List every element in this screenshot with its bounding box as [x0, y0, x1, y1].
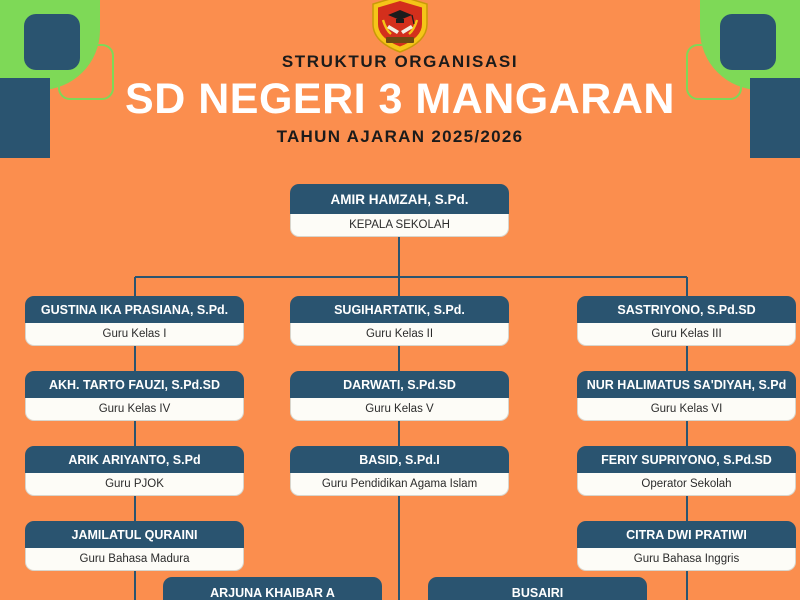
- org-node-role: Guru Kelas IV: [25, 398, 244, 421]
- org-node-name: DARWATI, S.Pd.SD: [290, 371, 509, 398]
- org-node-role: Guru Kelas V: [290, 398, 509, 421]
- org-node-c2-r1[interactable]: SUGIHARTATIK, S.Pd. Guru Kelas II: [290, 296, 509, 346]
- org-node-c1-r2[interactable]: AKH. TARTO FAUZI, S.Pd.SD Guru Kelas IV: [25, 371, 244, 421]
- org-node-c3-r4[interactable]: CITRA DWI PRATIWI Guru Bahasa Inggris: [577, 521, 796, 571]
- org-node-name: SUGIHARTATIK, S.Pd.: [290, 296, 509, 323]
- org-node-name: GUSTINA IKA PRASIANA, S.Pd.: [25, 296, 244, 323]
- org-node-c1-r1[interactable]: GUSTINA IKA PRASIANA, S.Pd. Guru Kelas I: [25, 296, 244, 346]
- org-node-c1-r3[interactable]: ARIK ARIYANTO, S.Pd Guru PJOK: [25, 446, 244, 496]
- org-node-role: Operator Sekolah: [577, 473, 796, 496]
- org-node-role: KEPALA SEKOLAH: [290, 214, 509, 237]
- org-node-name: BUSAIRI: [428, 577, 647, 600]
- org-node-role: Guru Bahasa Inggris: [577, 548, 796, 571]
- org-node-role: Guru Kelas III: [577, 323, 796, 346]
- org-node-name: NUR HALIMATUS SA'DIYAH, S.Pd: [577, 371, 796, 398]
- org-node-bottom-1[interactable]: ARJUNA KHAIBAR A: [163, 577, 382, 600]
- org-node-role: Guru PJOK: [25, 473, 244, 496]
- org-node-name: SASTRIYONO, S.Pd.SD: [577, 296, 796, 323]
- org-node-name: CITRA DWI PRATIWI: [577, 521, 796, 548]
- org-node-c3-r1[interactable]: SASTRIYONO, S.Pd.SD Guru Kelas III: [577, 296, 796, 346]
- org-node-name: ARIK ARIYANTO, S.Pd: [25, 446, 244, 473]
- org-node-c2-r3[interactable]: BASID, S.Pd.I Guru Pendidikan Agama Isla…: [290, 446, 509, 496]
- org-node-role: Guru Kelas I: [25, 323, 244, 346]
- org-node-role: Guru Bahasa Madura: [25, 548, 244, 571]
- org-node-role: Guru Kelas VI: [577, 398, 796, 421]
- org-node-c3-r3[interactable]: FERIY SUPRIYONO, S.Pd.SD Operator Sekola…: [577, 446, 796, 496]
- org-node-name: ARJUNA KHAIBAR A: [163, 577, 382, 600]
- org-node-role: Guru Pendidikan Agama Islam: [290, 473, 509, 496]
- org-node-c2-r2[interactable]: DARWATI, S.Pd.SD Guru Kelas V: [290, 371, 509, 421]
- org-chart: AMIR HAMZAH, S.Pd. KEPALA SEKOLAH GUSTIN…: [0, 0, 800, 600]
- org-node-name: AMIR HAMZAH, S.Pd.: [290, 184, 509, 214]
- org-node-role: Guru Kelas II: [290, 323, 509, 346]
- org-node-root[interactable]: AMIR HAMZAH, S.Pd. KEPALA SEKOLAH: [290, 184, 509, 237]
- org-node-name: AKH. TARTO FAUZI, S.Pd.SD: [25, 371, 244, 398]
- org-node-c3-r2[interactable]: NUR HALIMATUS SA'DIYAH, S.Pd Guru Kelas …: [577, 371, 796, 421]
- org-node-name: BASID, S.Pd.I: [290, 446, 509, 473]
- org-node-name: FERIY SUPRIYONO, S.Pd.SD: [577, 446, 796, 473]
- org-node-c1-r4[interactable]: JAMILATUL QURAINI Guru Bahasa Madura: [25, 521, 244, 571]
- org-node-bottom-2[interactable]: BUSAIRI: [428, 577, 647, 600]
- org-node-name: JAMILATUL QURAINI: [25, 521, 244, 548]
